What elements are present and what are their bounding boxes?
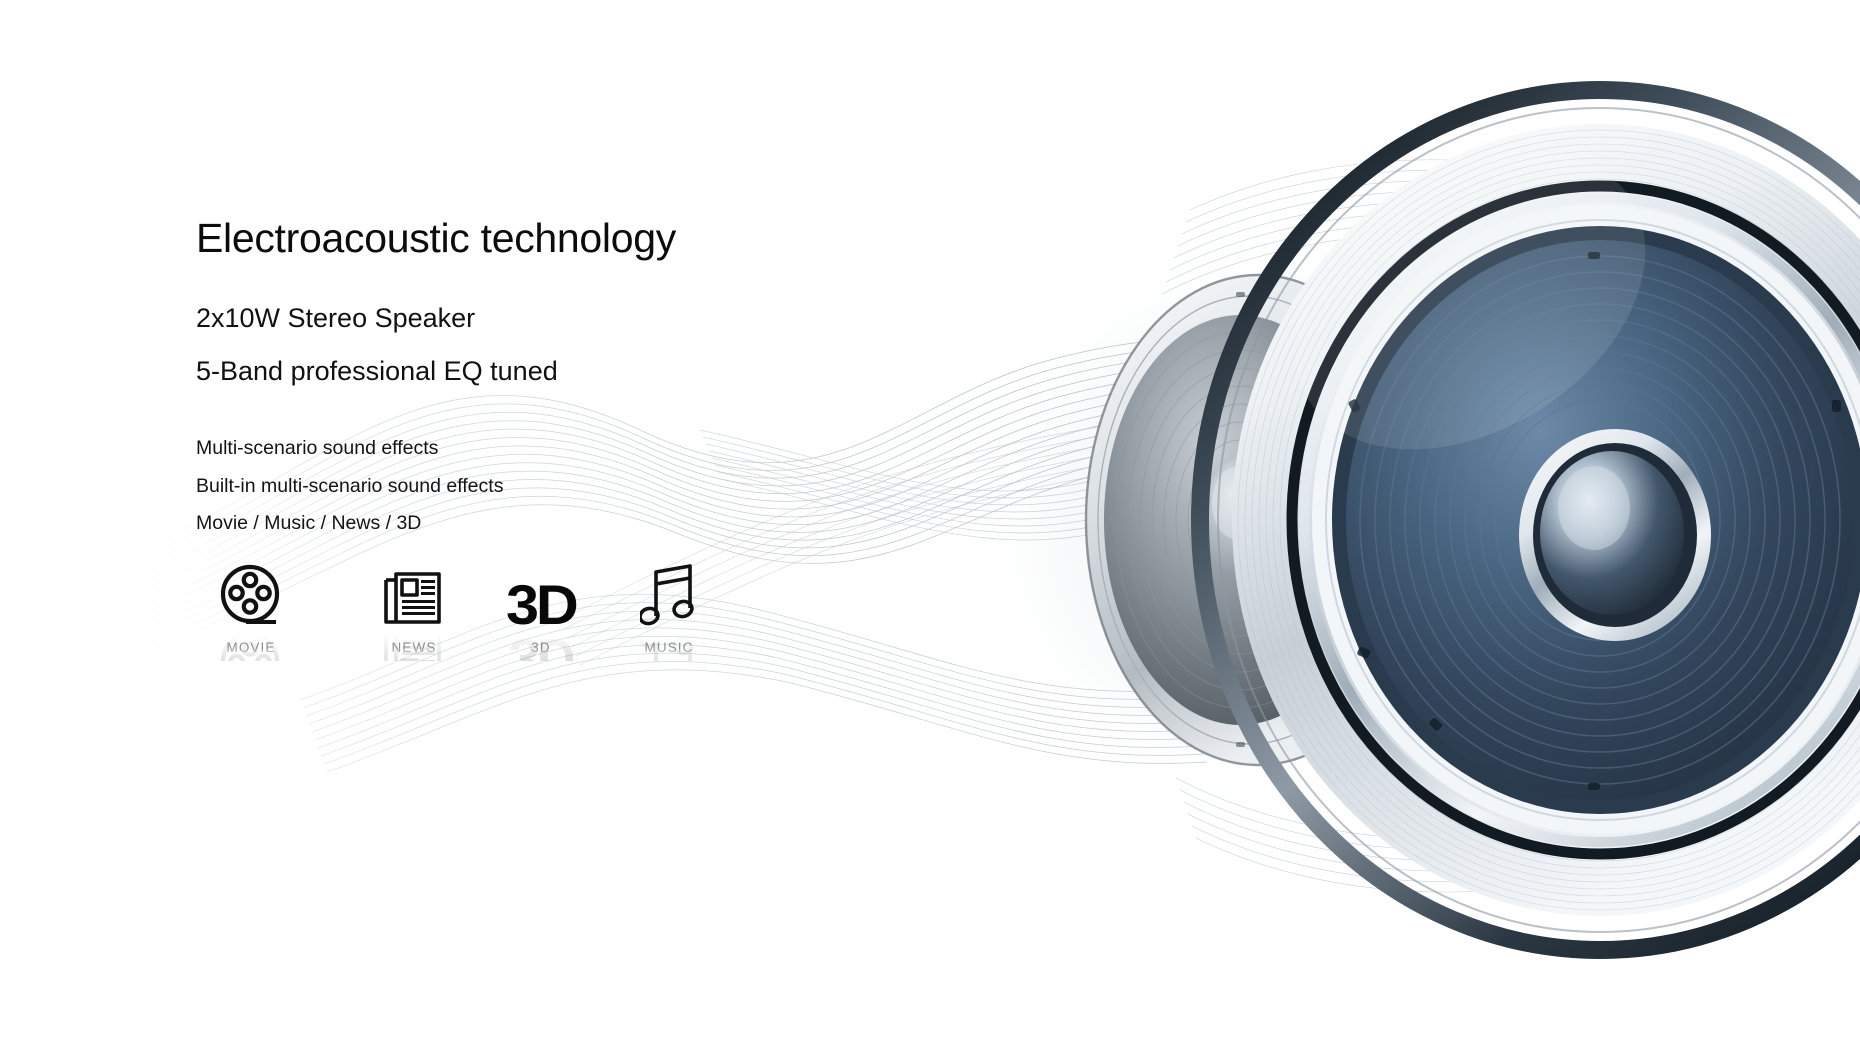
music-note-icon [614,550,724,628]
page-title: Electroacoustic technology [196,218,676,259]
scene-mode-music-label: MUSIC [614,640,724,655]
feature-line-1: Multi-scenario sound effects [196,439,676,459]
three-d-text-icon: 3D [486,550,596,628]
main-speaker-driver [1200,89,1860,950]
film-reel-icon [196,550,306,628]
spec-power-line: 2x10W Stereo Speaker [196,305,676,332]
newspaper-icon [359,550,469,628]
scene-mode-movie-label: MOVIE [196,640,306,655]
scene-mode-news[interactable]: NEWS [359,550,469,670]
scene-mode-news-label: NEWS [359,640,469,655]
feature-line-3: Movie / Music / News / 3D [196,514,676,534]
promo-banner: Electroacoustic technology 2x10W Stereo … [0,0,1860,1046]
scene-mode-music[interactable]: MUSIC [614,550,724,670]
copy-block: Electroacoustic technology 2x10W Stereo … [196,218,676,534]
scene-mode-3d-label: 3D [486,640,596,655]
spec-eq-line: 5-Band professional EQ tuned [196,358,676,385]
three-d-glyph: 3D [506,582,576,628]
scene-mode-3d[interactable]: 3D 3D 3D [486,550,596,670]
scene-mode-movie[interactable]: MOVIE [196,550,306,670]
rear-speaker-driver [1086,275,1430,765]
feature-line-2: Built-in multi-scenario sound effects [196,477,676,497]
scene-mode-icon-row: MOVIE [196,550,696,670]
